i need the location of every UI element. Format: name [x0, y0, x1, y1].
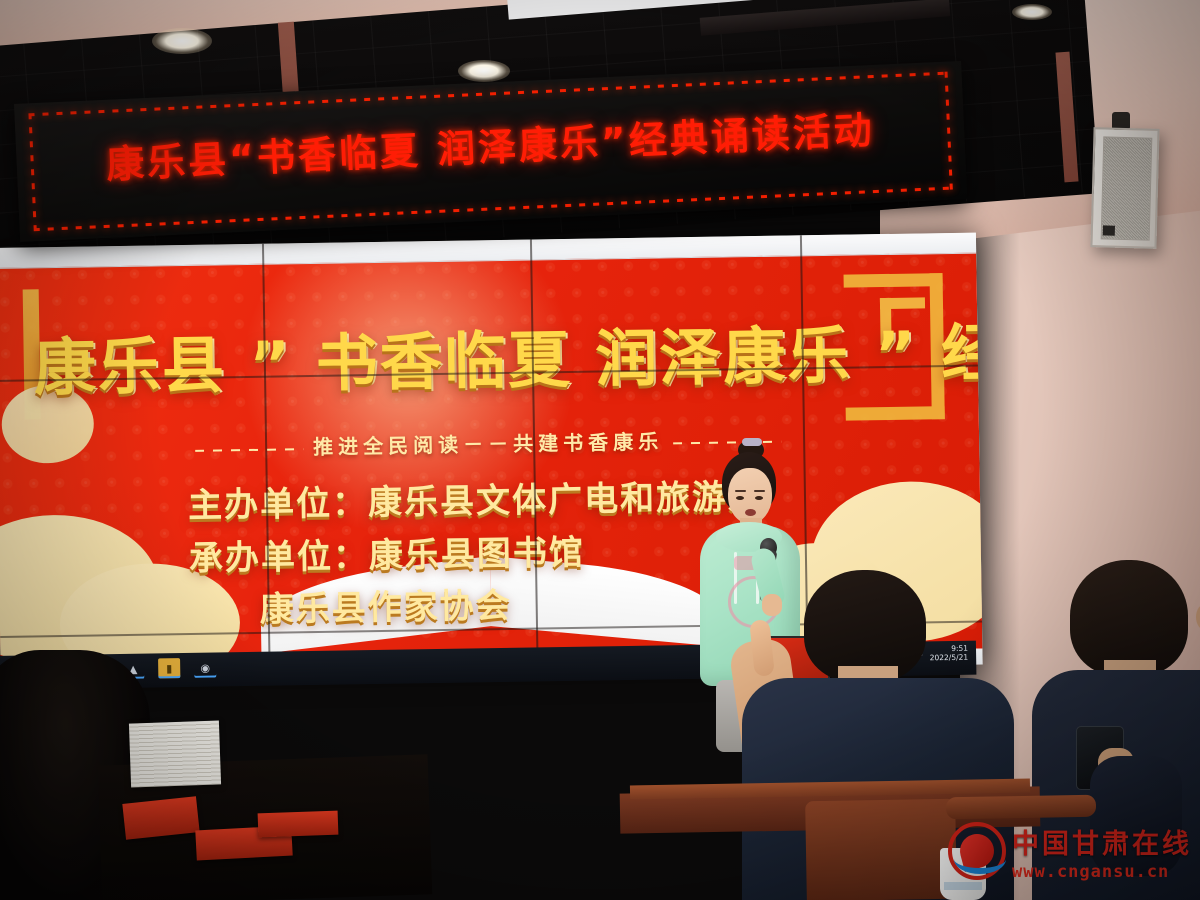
eyebrow-right: [754, 490, 765, 492]
watermark-org-name: 中国甘肃在线: [1012, 822, 1192, 861]
wall-speaker: [1090, 127, 1159, 249]
ceiling-downlight: [458, 60, 510, 82]
ear: [1196, 604, 1200, 630]
paper-stack: [129, 720, 221, 787]
eye-right: [755, 496, 763, 500]
ceiling-downlight: [1012, 4, 1052, 20]
cngansu-logo-icon: [948, 822, 1006, 880]
organizer-label: 主办单位：: [188, 483, 369, 526]
red-folder: [258, 811, 339, 838]
media-player-icon[interactable]: ◉: [194, 658, 216, 678]
poster-subtitle: 推进全民阅读－－共建书香康乐: [313, 430, 663, 459]
folder-icon[interactable]: ▮: [158, 658, 180, 678]
speaker-badge: [1103, 225, 1115, 235]
dash-left-decor: [195, 448, 303, 452]
chair-back: [805, 799, 957, 900]
head: [1070, 560, 1188, 676]
eye-left: [736, 496, 744, 500]
coorganizer-value: 康乐县图书馆: [369, 533, 586, 576]
dash-right-decor: [673, 440, 781, 444]
eyebrow-left: [735, 490, 746, 492]
mouth: [745, 509, 756, 516]
poster-coorganizer-line-2: 康乐县作家协会: [259, 578, 512, 631]
watermark-url: www.cngansu.cn: [1012, 862, 1169, 882]
poster-organizer-line: 主办单位：康乐县文体广电和旅游局: [188, 469, 765, 527]
watermark: 中国甘肃在线 www.cngansu.cn: [948, 818, 1192, 892]
hair-tie: [742, 438, 762, 446]
photo-scene: 通变海报.jpg (59.72MB，3150x2302像素) - 1/1 ☰ ⛶…: [0, 0, 1200, 900]
logo-swoosh: [954, 844, 1006, 874]
red-folder: [122, 796, 199, 840]
poster-coorganizer-line: 承办单位：康乐县图书馆: [188, 525, 585, 580]
coorganizer-value-2: 康乐县作家协会: [259, 586, 512, 630]
poster-title: 康乐县 ” 书香临夏 润泽康乐 ” 经典诵读: [33, 303, 934, 407]
coorganizer-label: 承办单位：: [189, 536, 370, 579]
ceiling-downlight: [152, 28, 212, 54]
chair-armrest: [946, 795, 1096, 820]
